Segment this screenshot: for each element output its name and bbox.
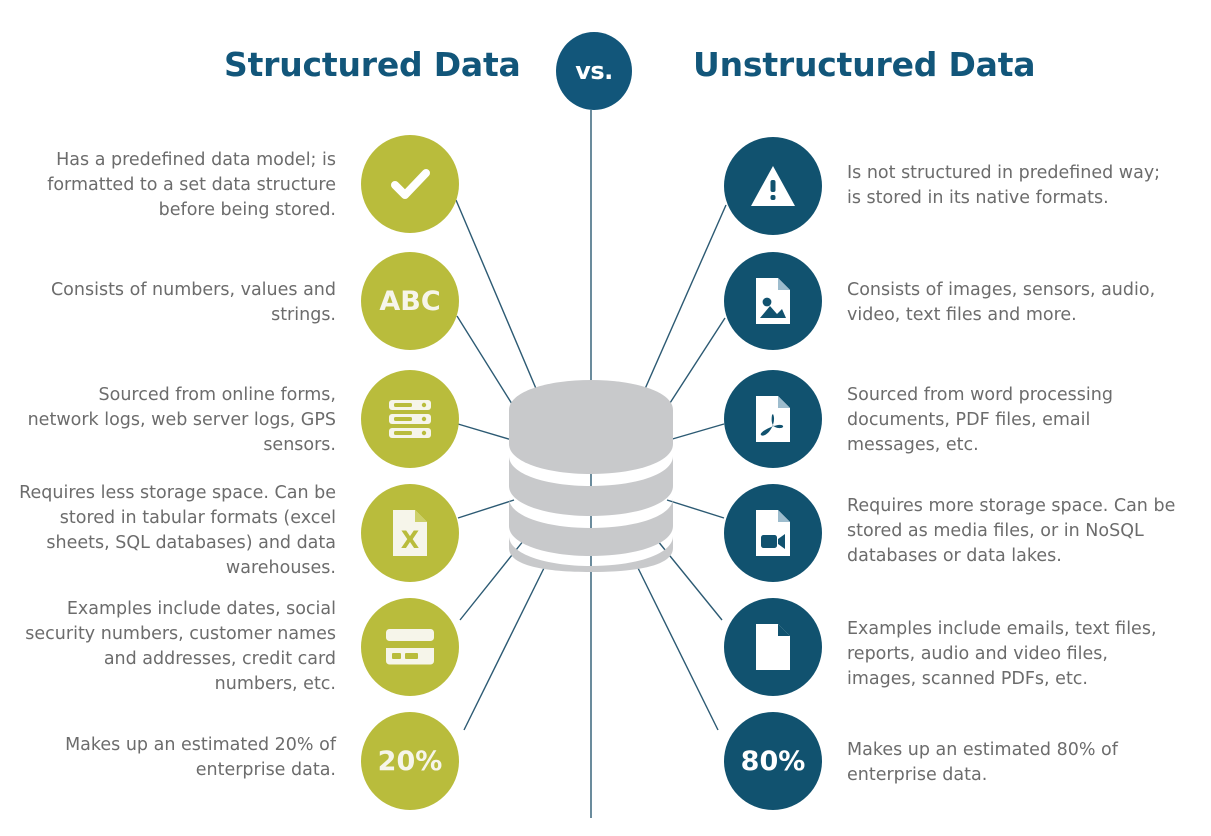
svg-text:X: X xyxy=(401,526,420,554)
video-file-icon xyxy=(752,508,794,558)
percent-label-icon: 80% xyxy=(741,746,806,777)
blurb-structured-5: Examples include dates, social security … xyxy=(16,597,336,697)
blurb-unstructured-3: Sourced from word processing documents, … xyxy=(847,383,1177,458)
excel-file-icon: X xyxy=(389,508,431,558)
spoke-left-3 xyxy=(458,424,512,440)
vs-label: vs. xyxy=(575,57,613,85)
vs-badge: vs. xyxy=(556,32,632,110)
blurb-unstructured-2: Consists of images, sensors, audio, vide… xyxy=(847,278,1177,328)
icon-circle-twenty-percent[interactable]: 20% xyxy=(361,712,459,810)
icon-circle-warning[interactable] xyxy=(724,137,822,235)
icon-circle-video-file[interactable] xyxy=(724,484,822,582)
icon-circle-excel[interactable]: X xyxy=(361,484,459,582)
abc-text-icon: ABC xyxy=(379,286,440,317)
percent-label-icon: 20% xyxy=(378,746,443,777)
server-rack-icon xyxy=(387,398,433,440)
pdf-file-icon xyxy=(752,394,794,444)
blurb-unstructured-5: Examples include emails, text files, rep… xyxy=(847,617,1177,692)
icon-circle-credit-card[interactable] xyxy=(361,598,459,696)
icon-circle-abc[interactable]: ABC xyxy=(361,252,459,350)
blurb-structured-3: Sourced from online forms, network logs,… xyxy=(24,383,336,458)
heading-unstructured-data: Unstructured Data xyxy=(693,45,1035,84)
credit-card-icon xyxy=(385,628,435,666)
icon-circle-server[interactable] xyxy=(361,370,459,468)
blurb-structured-6: Makes up an estimated 20% of enterprise … xyxy=(24,733,336,783)
blank-document-icon xyxy=(752,622,794,672)
icon-circle-pdf-file[interactable] xyxy=(724,370,822,468)
blurb-structured-2: Consists of numbers, values and strings. xyxy=(24,278,336,328)
spoke-left-6 xyxy=(464,566,545,730)
image-file-icon xyxy=(752,276,794,326)
icon-circle-image-file[interactable] xyxy=(724,252,822,350)
icon-circle-eighty-percent[interactable]: 80% xyxy=(724,712,822,810)
icon-circle-check[interactable] xyxy=(361,135,459,233)
blurb-structured-1: Has a predefined data model; is formatte… xyxy=(24,148,336,223)
blurb-unstructured-6: Makes up an estimated 80% of enterprise … xyxy=(847,738,1177,788)
database-cylinder-icon xyxy=(505,376,677,574)
icon-circle-blank-document[interactable] xyxy=(724,598,822,696)
infographic-canvas: Structured Data Unstructured Data vs. AB… xyxy=(0,0,1211,836)
heading-structured-data: Structured Data xyxy=(224,45,521,84)
spoke-left-1 xyxy=(456,200,540,398)
spoke-right-1 xyxy=(641,205,726,398)
warning-triangle-icon xyxy=(749,164,797,208)
spoke-right-6 xyxy=(637,566,718,730)
spoke-right-3 xyxy=(669,424,724,440)
check-mark-icon xyxy=(387,161,433,207)
blurb-unstructured-1: Is not structured in predefined way; is … xyxy=(847,161,1177,211)
blurb-structured-4: Requires less storage space. Can be stor… xyxy=(16,481,336,581)
blurb-unstructured-4: Requires more storage space. Can be stor… xyxy=(847,494,1177,569)
cylinder-top-band xyxy=(509,380,673,474)
